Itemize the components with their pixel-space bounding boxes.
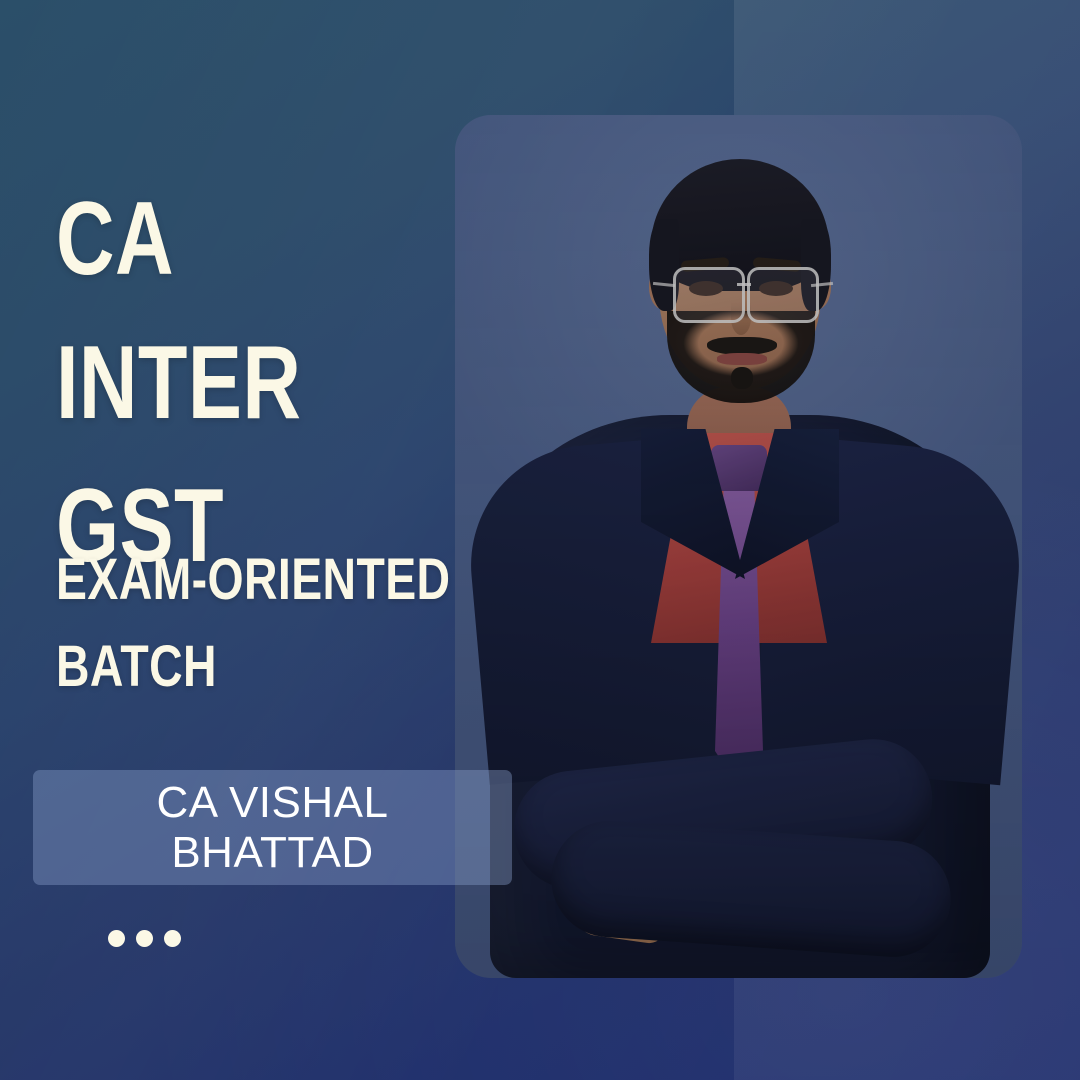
- portrait-mouth: [717, 353, 767, 365]
- subtitle: EXAM-ORIENTED BATCH: [56, 536, 472, 710]
- glasses-lens-left-icon: [673, 267, 745, 323]
- dot-3: [164, 930, 181, 947]
- glasses-lens-right-icon: [747, 267, 819, 323]
- decorative-dots: [108, 930, 181, 947]
- glasses-bridge: [737, 283, 751, 286]
- instructor-portrait: [455, 115, 1022, 978]
- instructor-photo-card: [455, 115, 1022, 978]
- page-title: CA INTER GST: [56, 168, 423, 599]
- instructor-name-label: CA VISHAL BHATTAD: [157, 778, 389, 877]
- dot-1: [108, 930, 125, 947]
- portrait-soul-patch: [731, 367, 753, 389]
- instructor-name-badge: CA VISHAL BHATTAD: [33, 770, 512, 885]
- dot-2: [136, 930, 153, 947]
- course-promo-poster: CA INTER GST EXAM-ORIENTED BATCH CA VISH…: [0, 0, 1080, 1080]
